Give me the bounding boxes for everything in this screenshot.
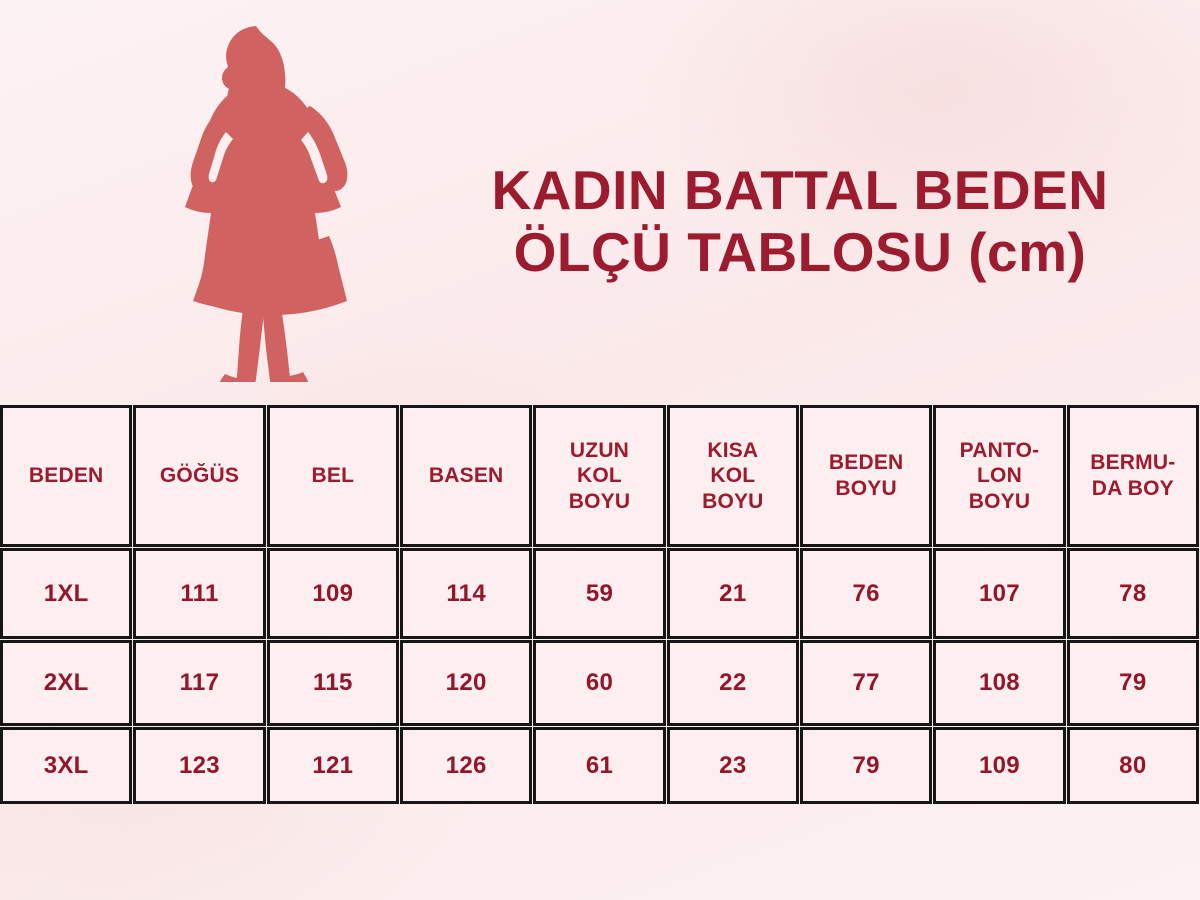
- table-data-cell: 117: [133, 640, 265, 726]
- table-data-cell: 120: [400, 640, 532, 726]
- table-header-line: UZUN: [569, 438, 630, 464]
- table-data-cell: 77: [800, 640, 932, 726]
- title-line-1: KADIN BATTAL BEDEN: [430, 160, 1170, 222]
- table-header-cell: KISAKOLBOYU: [667, 405, 799, 547]
- table-header-label: GÖĞÜS: [156, 463, 243, 489]
- table-header-line: BOYU: [569, 489, 630, 515]
- table-data-cell: 78: [1067, 548, 1199, 639]
- table-row-size-label: 1XL: [0, 548, 132, 639]
- table-header-line: KISA: [702, 438, 763, 464]
- table-data-cell: 76: [800, 548, 932, 639]
- table-header-label: BASEN: [425, 463, 508, 489]
- table-header-label: BEDENBOYU: [825, 450, 908, 501]
- table-header-cell: BERMU-DA BOY: [1067, 405, 1199, 547]
- table-data-cell: 121: [267, 727, 399, 804]
- table-header-cell: GÖĞÜS: [133, 405, 265, 547]
- table-data-cell: 108: [933, 640, 1065, 726]
- table-header-line: PANTO-: [960, 438, 1040, 464]
- table-data-cell: 60: [533, 640, 665, 726]
- table-header-cell: BEL: [267, 405, 399, 547]
- table-header-line: BASEN: [429, 463, 504, 489]
- table-header-cell: BEDEN: [0, 405, 132, 547]
- table-header-line: BERMU-: [1090, 450, 1175, 476]
- table-header-line: BEDEN: [829, 450, 904, 476]
- table-data-cell: 61: [533, 727, 665, 804]
- table-data-cell: 123: [133, 727, 265, 804]
- table-header-line: BOYU: [829, 476, 904, 502]
- table-data-cell: 109: [267, 548, 399, 639]
- table-data-cell: 79: [1067, 640, 1199, 726]
- page-title: KADIN BATTAL BEDEN ÖLÇÜ TABLOSU (cm): [430, 160, 1170, 283]
- table-header-label: KISAKOLBOYU: [698, 438, 767, 515]
- table-data-cell: 111: [133, 548, 265, 639]
- table-header-label: UZUNKOLBOYU: [565, 438, 634, 515]
- table-data-cell: 114: [400, 548, 532, 639]
- table-header-line: GÖĞÜS: [160, 463, 239, 489]
- table-header-cell: BASEN: [400, 405, 532, 547]
- table-header-line: KOL: [702, 463, 763, 489]
- header-section: KADIN BATTAL BEDEN ÖLÇÜ TABLOSU (cm): [0, 0, 1200, 405]
- title-line-2: ÖLÇÜ TABLOSU (cm): [430, 222, 1170, 284]
- table-data-cell: 79: [800, 727, 932, 804]
- table-data-cell: 109: [933, 727, 1065, 804]
- table-data-cell: 22: [667, 640, 799, 726]
- table-header-line: LON: [960, 463, 1040, 489]
- plus-size-woman-silhouette-icon: [160, 22, 375, 382]
- table-header-cell: PANTO-LONBOYU: [933, 405, 1065, 547]
- table-data-cell: 107: [933, 548, 1065, 639]
- table-header-cell: BEDENBOYU: [800, 405, 932, 547]
- table-header-cell: UZUNKOLBOYU: [533, 405, 665, 547]
- table-header-line: BOYU: [960, 489, 1040, 515]
- table-data-cell: 59: [533, 548, 665, 639]
- table-data-cell: 23: [667, 727, 799, 804]
- table-data-cell: 21: [667, 548, 799, 639]
- table-row-size-label: 3XL: [0, 727, 132, 804]
- table-data-cell: 115: [267, 640, 399, 726]
- table-row-size-label: 2XL: [0, 640, 132, 726]
- table-header-line: BEDEN: [29, 463, 104, 489]
- size-chart-table: BEDENGÖĞÜSBELBASENUZUNKOLBOYUKISAKOLBOYU…: [0, 405, 1200, 805]
- table-data-cell: 126: [400, 727, 532, 804]
- table-header-label: BERMU-DA BOY: [1086, 450, 1179, 501]
- table-header-line: BEL: [312, 463, 355, 489]
- table-header-label: PANTO-LONBOYU: [956, 438, 1044, 515]
- table-header-line: BOYU: [702, 489, 763, 515]
- table-header-line: KOL: [569, 463, 630, 489]
- table-header-label: BEL: [308, 463, 359, 489]
- table-data-cell: 80: [1067, 727, 1199, 804]
- table-header-label: BEDEN: [25, 463, 108, 489]
- table-header-line: DA BOY: [1090, 476, 1175, 502]
